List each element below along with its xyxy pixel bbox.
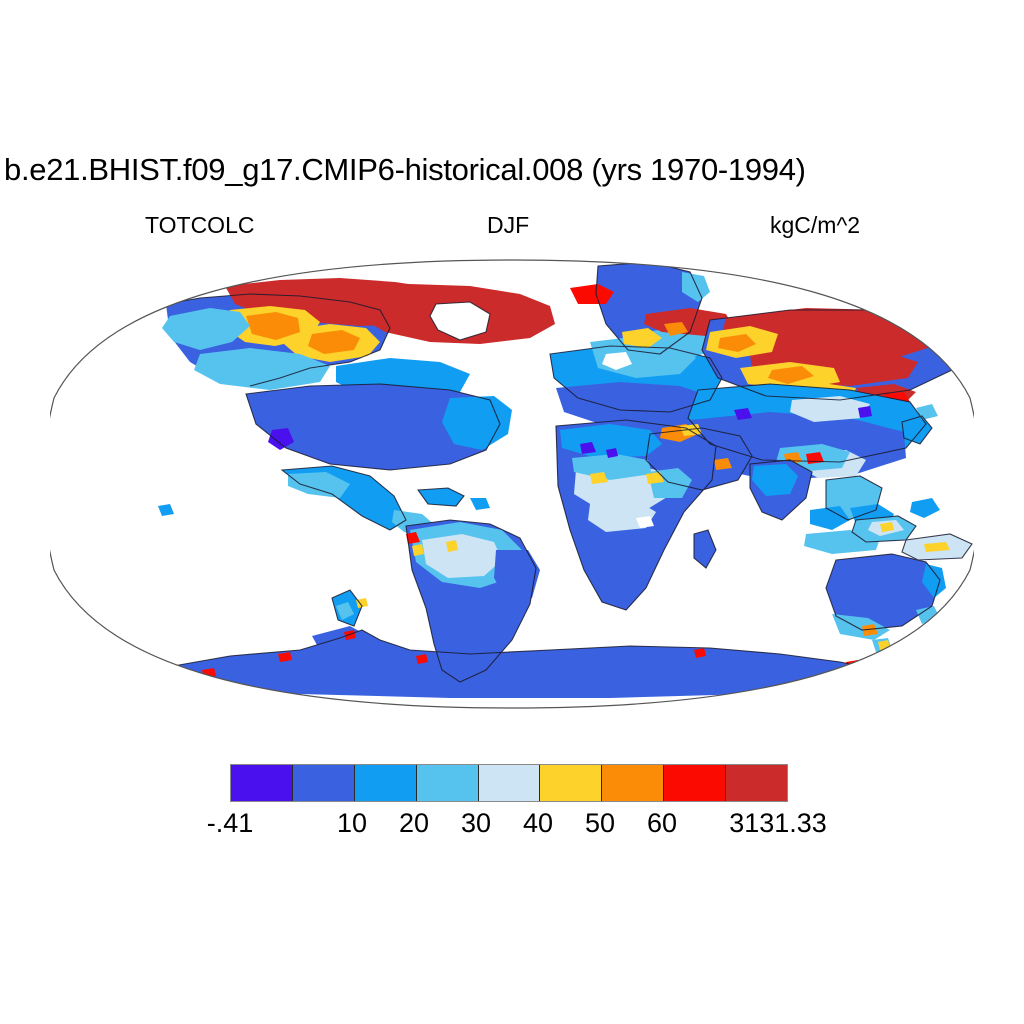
colorbar-tick-6: 60	[647, 808, 677, 838]
world-map	[50, 258, 974, 710]
map-canvas	[50, 258, 974, 710]
colorbar-tick-2: 20	[399, 808, 429, 838]
colorbar-segments[interactable]	[230, 764, 788, 802]
colorbar-segment-0[interactable]	[231, 765, 293, 801]
colorbar-segment-5[interactable]	[540, 765, 602, 801]
variable-label: TOTCOLC	[145, 212, 254, 238]
season-label: DJF	[487, 212, 529, 238]
units-label: kgC/m^2	[770, 212, 860, 238]
colorbar-tick-7: 3131.33	[729, 808, 827, 838]
colorbar-segment-7[interactable]	[664, 765, 726, 801]
page-title: b.e21.BHIST.f09_g17.CMIP6-historical.008…	[4, 153, 1020, 187]
colorbar-segment-6[interactable]	[602, 765, 664, 801]
colorbar-tick-3: 30	[461, 808, 491, 838]
colorbar-segment-1[interactable]	[293, 765, 355, 801]
colorbar[interactable]	[230, 764, 788, 802]
colorbar-tick-5: 50	[585, 808, 615, 838]
colorbar-tick-4: 40	[523, 808, 553, 838]
colorbar-segment-2[interactable]	[355, 765, 417, 801]
colorbar-tick-labels: -.41 10 20 30 40 50 60 3131.33	[130, 808, 930, 848]
colorbar-tick-1: 10	[337, 808, 367, 838]
colorbar-tick-0: -.41	[207, 808, 254, 838]
map-data-layer	[50, 258, 974, 710]
climate-map-figure: b.e21.BHIST.f09_g17.CMIP6-historical.008…	[0, 0, 1024, 1024]
colorbar-segment-3[interactable]	[417, 765, 479, 801]
colorbar-segment-8[interactable]	[726, 765, 787, 801]
colorbar-segment-4[interactable]	[479, 765, 541, 801]
